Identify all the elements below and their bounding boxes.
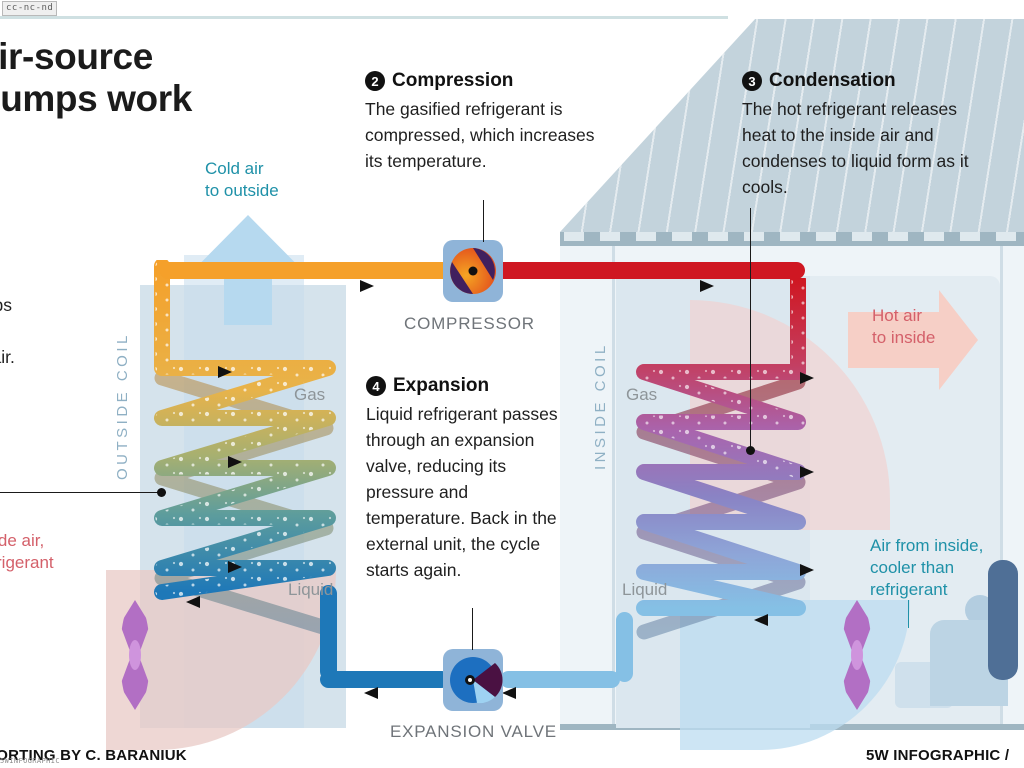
step-4-label: Expansion <box>393 375 489 397</box>
step-1-heading: ration <box>0 240 170 262</box>
condensation-leader-dot <box>746 446 755 455</box>
expansion-valve-label: EXPANSION VALVE <box>390 722 557 742</box>
creative-commons-badge: cc-nc-nd <box>2 1 57 16</box>
compressor-icon <box>443 240 503 302</box>
outside-coil-liquid-label: Liquid <box>288 580 333 600</box>
evaporation-leader-dot <box>157 488 166 497</box>
compressor-leader-line <box>483 200 484 242</box>
inside-coil-label: INSIDE COIL <box>592 290 609 470</box>
compressor-label: COMPRESSOR <box>404 314 535 334</box>
step-2-number: 2 <box>365 71 385 91</box>
inside-air-leader-line <box>908 600 909 628</box>
step-4-heading: 4 Expansion <box>366 375 566 397</box>
top-rule-gap <box>728 16 1024 19</box>
step-1-body: liquid t absorbs the utside air. ow re, … <box>0 266 170 474</box>
cold-air-label: Cold air to outside <box>205 158 279 202</box>
step-2-body: The gasified refrigerant is compressed, … <box>365 96 600 174</box>
inside-coil-liquid-label: Liquid <box>622 580 667 600</box>
step-condensation: 3 Condensation The hot refrigerant relea… <box>742 70 992 200</box>
step-4-body: Liquid refrigerant passes through an exp… <box>366 401 566 583</box>
page-title: air-source pumps work <box>0 36 398 120</box>
step-4-number: 4 <box>366 376 386 396</box>
step-compression: 2 Compression The gasified refrigerant i… <box>365 70 600 174</box>
expansion-valve-icon <box>443 649 503 711</box>
step-evaporation: ration liquid t absorbs the utside air. … <box>0 240 170 474</box>
expansion-leader-line <box>472 608 473 650</box>
small-watermark: 5WINFOGRAPHIC <box>0 757 60 765</box>
infographic-canvas: air-source pumps work ration liquid t ab… <box>0 0 1024 768</box>
expansion-valve-device[interactable] <box>443 649 503 711</box>
condensation-leader-line <box>750 208 751 450</box>
step-2-heading: 2 Compression <box>365 70 600 92</box>
compressor-device[interactable] <box>443 240 503 302</box>
outside-coil-label: OUTSIDE COIL <box>114 290 131 480</box>
step-2-label: Compression <box>392 70 513 92</box>
inside-air-label: Air from inside, cooler than refrigerant <box>870 535 983 601</box>
credit-infographic: 5W INFOGRAPHIC / <box>866 747 1009 764</box>
step-3-heading: 3 Condensation <box>742 70 992 92</box>
step-3-body: The hot refrigerant releases heat to the… <box>742 96 992 200</box>
step-3-label: Condensation <box>769 70 896 92</box>
hot-air-label: Hot air to inside <box>872 305 935 349</box>
step-3-number: 3 <box>742 71 762 91</box>
evaporation-leader-line <box>0 492 166 493</box>
step-expansion: 4 Expansion Liquid refrigerant passes th… <box>366 375 566 583</box>
outside-air-label: outside air, n refrigerant <box>0 530 162 574</box>
inside-coil-gas-label: Gas <box>626 385 657 405</box>
outside-coil-gas-label: Gas <box>294 385 325 405</box>
